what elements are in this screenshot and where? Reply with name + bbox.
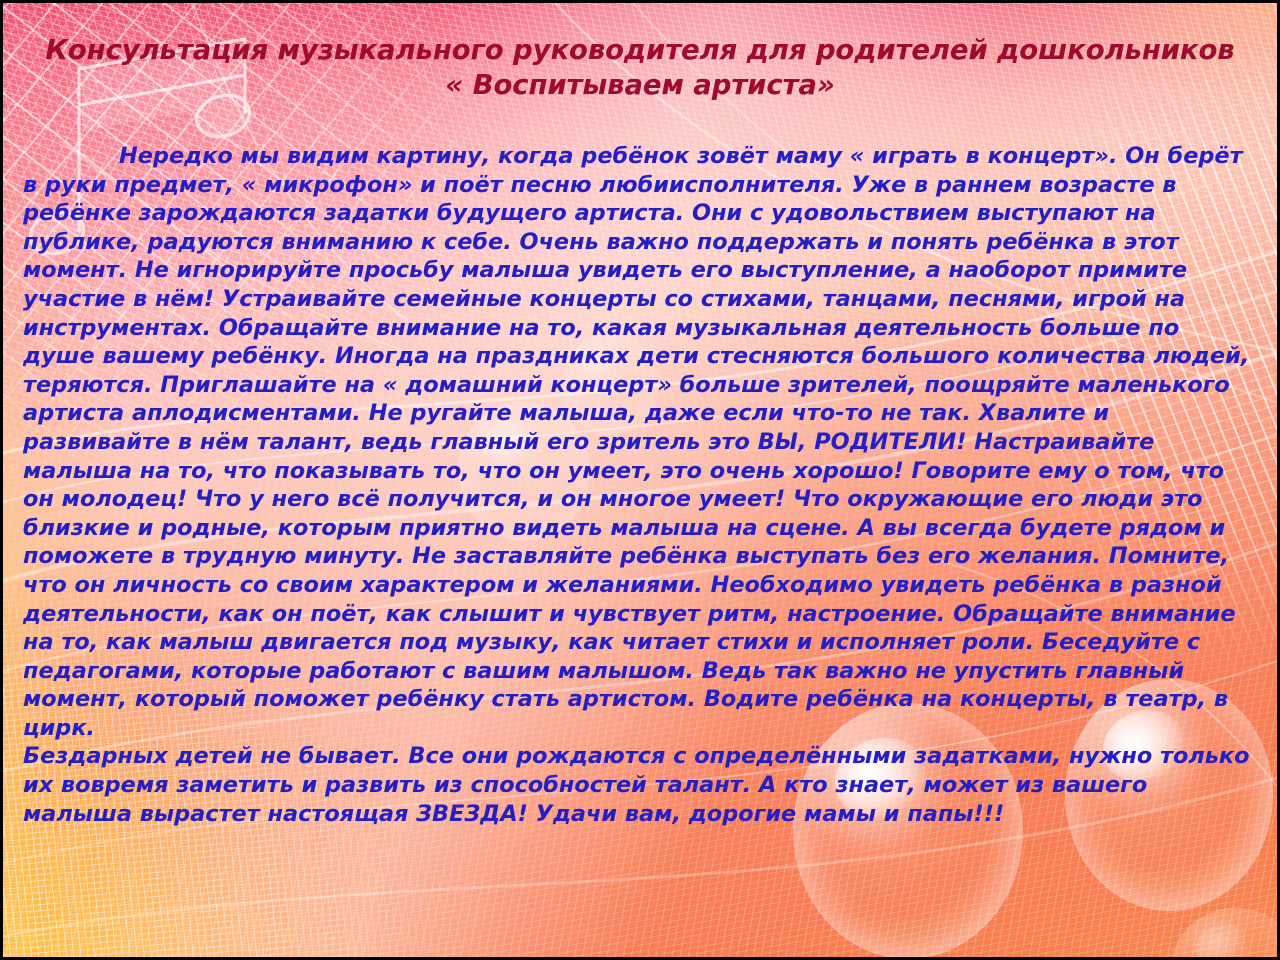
slide-content: Консультация музыкального руководителя д… [3,3,1277,957]
title-line-1: Консультация музыкального руководителя д… [31,33,1249,68]
paragraph-2: Бездарных детей не бывает. Все они рожда… [23,742,1257,828]
paragraph-1: Нередко мы видим картину, когда ребёнок … [23,142,1257,742]
body-text: Нередко мы видим картину, когда ребёнок … [23,142,1257,828]
title-line-2: « Воспитываем артиста» [31,68,1249,103]
page-title: Консультация музыкального руководителя д… [3,33,1277,102]
slide-canvas: Консультация музыкального руководителя д… [0,0,1280,960]
